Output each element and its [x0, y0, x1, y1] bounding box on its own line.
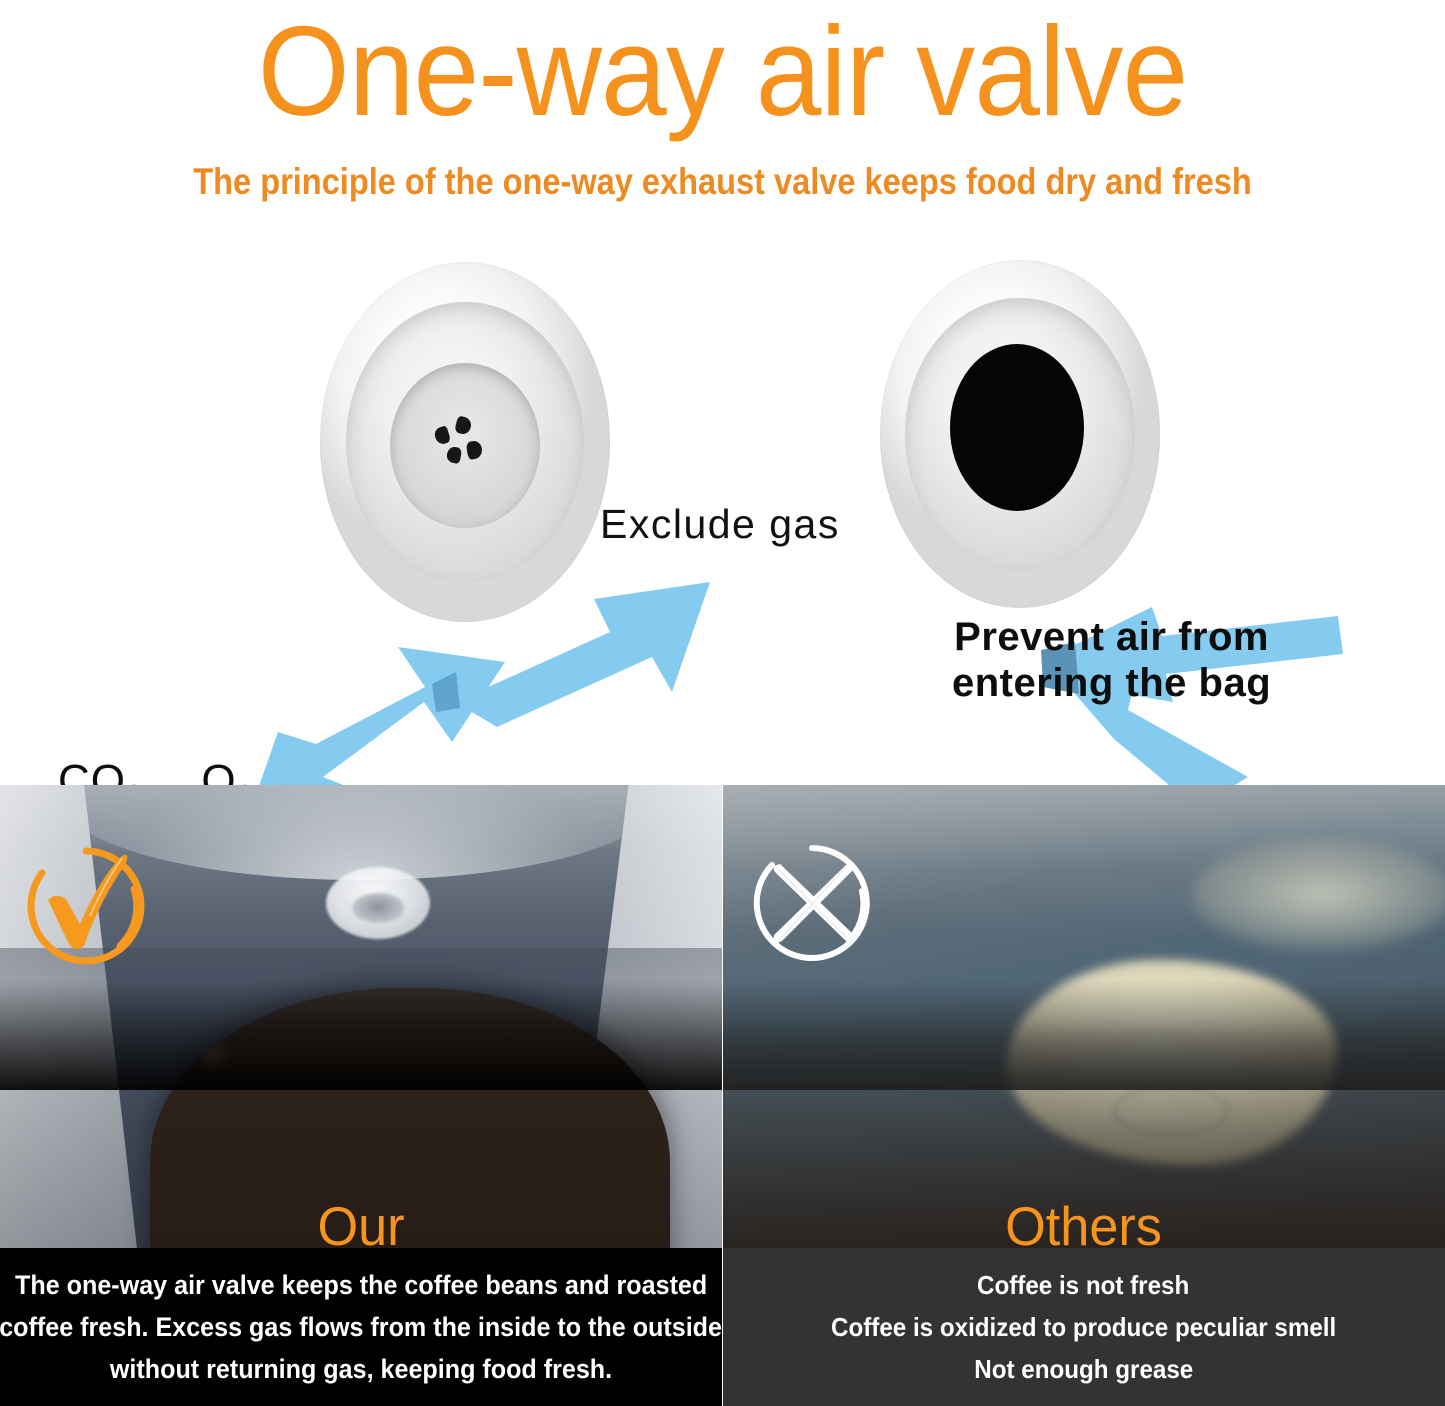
valve-pore: [465, 440, 482, 460]
panel-divider: [722, 785, 723, 1406]
gases-label-text: CO: [58, 756, 126, 785]
valve-pore: [433, 426, 452, 446]
bag-valve-center: [352, 893, 404, 923]
valve-pore: [446, 446, 463, 464]
page-subtitle: The principle of the one-way exhaust val…: [87, 160, 1359, 204]
others-coffee-bag-photo: [722, 785, 1445, 1248]
our-caption-band: The one-way air valve keeps the coffee b…: [0, 1248, 722, 1406]
gases-label-separator: 、 O: [143, 756, 236, 785]
valve-diagram: Exclude gas CO2、 O2 Prevent air from ent…: [0, 232, 1445, 785]
valve-sealed-hole: [950, 344, 1084, 511]
comparison-panel-our: Our The one-way air valve keeps the coff…: [0, 785, 722, 1406]
page-title: One-way air valve: [51, 4, 1395, 138]
our-caption-line-2: coffee fresh. Excess gas flows from the …: [0, 1306, 722, 1348]
cross-badge-icon: [748, 839, 876, 967]
others-caption-band: Coffee is not fresh Coffee is oxidized t…: [722, 1248, 1445, 1406]
our-caption-line-3: without returning gas, keeping food fres…: [110, 1348, 612, 1390]
gases-label: CO2、 O2: [58, 755, 254, 785]
photo-light-blob: [1192, 840, 1445, 950]
prevent-air-label: Prevent air from entering the bag: [952, 614, 1271, 706]
others-caption-line-2: Coffee is oxidized to produce peculiar s…: [831, 1306, 1336, 1348]
our-coffee-bag-photo: [0, 785, 722, 1248]
our-label: Our: [18, 1196, 704, 1256]
comparison-panel-others: Others Coffee is not fresh Coffee is oxi…: [722, 785, 1445, 1406]
prevent-air-line-2: entering the bag: [952, 660, 1271, 706]
check-badge-icon: [22, 842, 150, 970]
others-label: Others: [740, 1196, 1427, 1256]
others-caption-line-1: Coffee is not fresh: [977, 1264, 1189, 1306]
others-caption-line-3: Not enough grease: [974, 1348, 1193, 1390]
our-caption-line-1: The one-way air valve keeps the coffee b…: [15, 1264, 707, 1306]
comparison-section: Our The one-way air valve keeps the coff…: [0, 785, 1445, 1406]
valve-bowl: [390, 363, 541, 529]
incoming-gas-arrow-icon: [248, 647, 505, 785]
prevent-air-line-1: Prevent air from: [952, 614, 1271, 660]
open-exhaust-valve-illustration: [320, 262, 610, 622]
valve-pore: [454, 416, 473, 436]
our-label-fade: [0, 980, 722, 1090]
others-label-fade: [722, 980, 1445, 1090]
arrow-tip-shadow: [432, 672, 460, 712]
bag-top-seal: [60, 785, 660, 880]
exclude-gas-label: Exclude gas: [600, 500, 840, 548]
sealed-valve-illustration: [880, 260, 1160, 608]
header-banner: One-way air valve The principle of the o…: [0, 0, 1445, 232]
